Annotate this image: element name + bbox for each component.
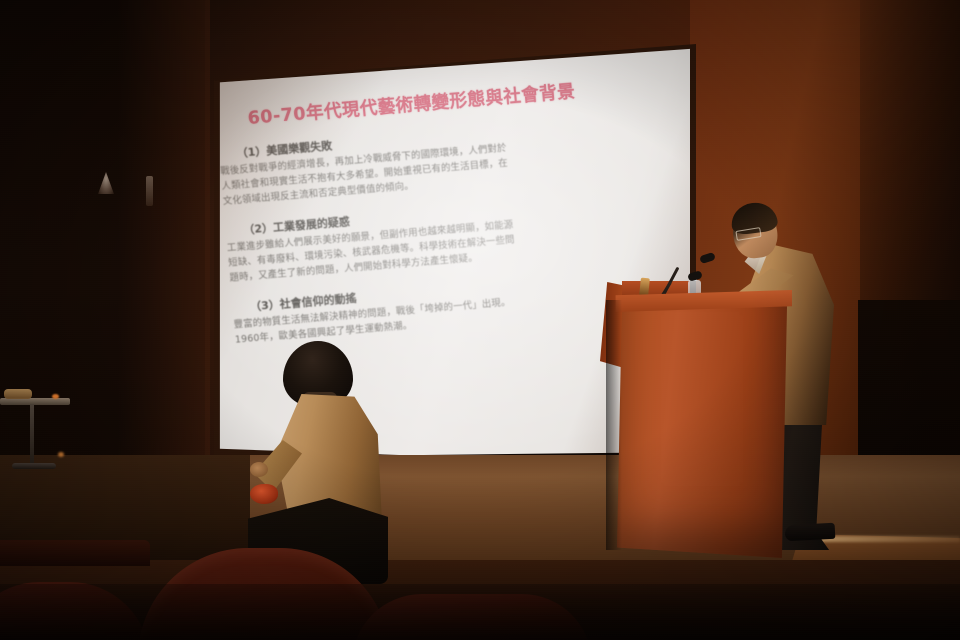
- wall-strip: [146, 176, 153, 206]
- left-wall-panel: [118, 0, 210, 462]
- foreground-shadow: [0, 584, 960, 640]
- attendee-held-object: [250, 484, 278, 504]
- podium-shadow: [606, 300, 622, 550]
- podium-item: [639, 278, 650, 297]
- equipment-led-icon: [52, 394, 59, 399]
- side-table-leg: [30, 404, 34, 466]
- podium: [617, 296, 787, 558]
- speaker-shoe: [785, 523, 836, 542]
- floor-led-icon: [58, 452, 64, 457]
- foreground-rail: [0, 540, 150, 566]
- lecture-hall-photo: 60-70年代現代藝術轉變形態與社會背景 （1）美國樂觀失敗 戰後反對戰爭的經濟…: [0, 0, 960, 640]
- side-table-base: [12, 463, 56, 469]
- attendee-hand: [250, 462, 268, 477]
- side-table-object: [4, 389, 32, 399]
- side-table: [0, 398, 70, 405]
